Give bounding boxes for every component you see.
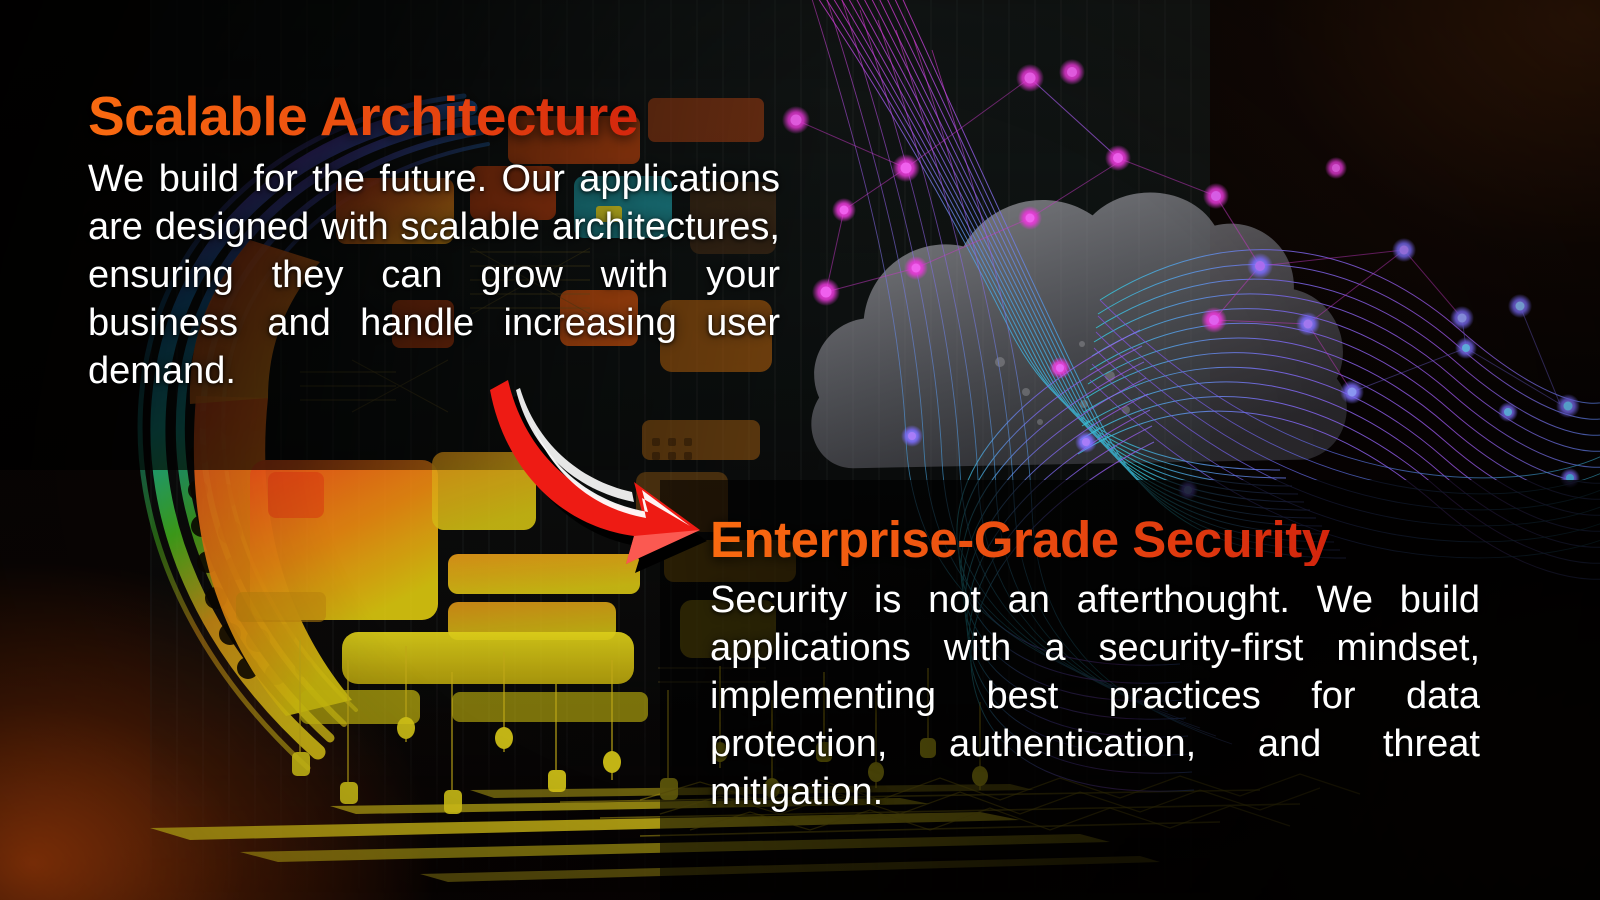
slide-canvas: Scalable Architecture We build for the f… [0, 0, 1600, 900]
heading-scalable-architecture: Scalable Architecture [88, 88, 788, 144]
heading-enterprise-grade-security: Enterprise-Grade Security [710, 514, 1485, 566]
curved-down-right-arrow [486, 378, 736, 593]
section-enterprise-grade-security: Enterprise-Grade Security Security is no… [710, 514, 1485, 864]
body-enterprise-grade-security: Security is not an afterthought. We buil… [710, 576, 1480, 864]
